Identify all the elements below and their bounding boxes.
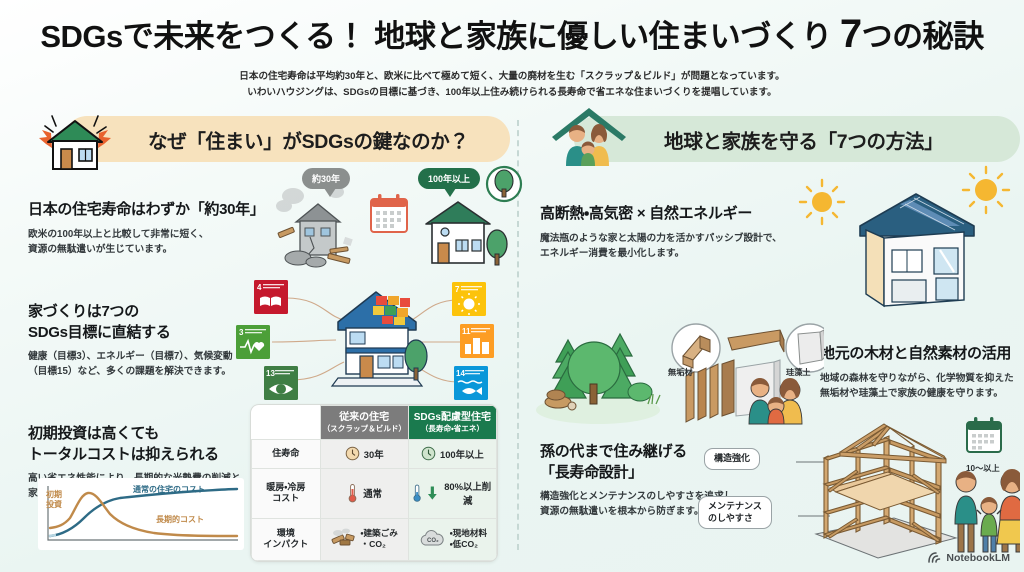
svg-text:4: 4 <box>257 283 262 292</box>
notebooklm-watermark-text: NotebookLM <box>946 552 1010 564</box>
right-column: 地球と家族を守る「7つの方法」 高断熱・高気 <box>528 112 1020 564</box>
row-label-environment: 環境 インパクト <box>252 518 321 560</box>
sdg-icon-11: 11 <box>460 324 494 363</box>
family-house-icon <box>546 104 632 172</box>
row-label-energy-cost-line-1: 暖房・冷房 <box>254 482 318 494</box>
row-label-lifespan: 住寿命 <box>252 440 321 469</box>
cell-environment-new-line-1: ・現地材料 <box>450 528 487 540</box>
co2-cloud-icon: CO₂ <box>418 529 446 549</box>
left-block-2-title-line-1: 家づくりは7つの <box>28 302 248 323</box>
right-block-2-body-line-2: 無垢材や珪藻土で家族の健康を守ります。 <box>820 386 1018 401</box>
solar-house-illustration <box>788 164 1018 315</box>
table-col-old: 従来の住宅 （スクラップ＆ビルド） <box>320 406 408 440</box>
timber-frame-icon <box>688 412 1020 564</box>
thermometer-icon <box>346 483 359 503</box>
clock-icon <box>421 446 436 461</box>
chart-label-initial-line-2: 投資 <box>46 500 62 510</box>
sun-icon-left <box>800 180 844 224</box>
left-section-pill: なぜ「住まい」がSDGsの鍵なのか？ <box>64 116 510 162</box>
callout-maintenance-line-1: メンテナンス <box>708 501 762 513</box>
cell-environment-new-line-2: ・低CO₂ <box>450 539 487 551</box>
notebooklm-watermark: NotebookLM <box>927 551 1010 564</box>
calendar-icon <box>967 417 1001 452</box>
svg-text:CO₂: CO₂ <box>427 538 439 544</box>
cell-environment-old: ・建築ごみ ・CO₂ <box>320 518 408 560</box>
callout-maintenance: メンテナンス のしやすさ <box>698 496 772 529</box>
cell-energy-old: 通常 <box>320 468 408 518</box>
cell-lifespan-new-text: 100年以上 <box>440 447 484 461</box>
right-block-1-title: 高断熱・高気密 × 自然エネルギー <box>540 204 790 225</box>
left-block-2-text: 家づくりは7つの SDGs目標に直結する 健康（目標3）、エネルギー（目標7）、… <box>28 302 248 379</box>
table-header-row: 従来の住宅 （スクラップ＆ビルド） SDGs配慮型住宅 （長寿命・省エネ） <box>252 406 497 440</box>
row-label-energy-cost-line-2: コスト <box>254 493 318 505</box>
comparison-table-grid: 従来の住宅 （スクラップ＆ビルド） SDGs配慮型住宅 （長寿命・省エネ） 住寿… <box>251 405 497 561</box>
sdg-house-diagram: 4 3 13 <box>226 270 516 406</box>
left-block-1-text: 日本の住宅寿命はわずか「約30年」 欧米の100年以上と比較して非常に短く、 資… <box>28 200 258 257</box>
page-subtitle: 日本の住宅寿命は平均約30年と、欧米に比べて極めて短く、大量の廃材を生む「スクラ… <box>0 69 1024 101</box>
cell-environment-new-list: ・現地材料 ・低CO₂ <box>450 528 487 551</box>
chart-label-initial-investment: 初期 投資 <box>46 490 62 510</box>
cost-comparison-chart: 初期 投資 通常の住宅のコスト 長期的コスト <box>38 478 244 550</box>
right-block-2-text: 地元の木材と自然素材の活用 地域の森林を守りながら、化学物質を抑えた 無垢材や珪… <box>820 344 1018 401</box>
table-col-old-title: 従来の住宅 <box>339 412 389 423</box>
table-row: 住寿命 30年 <box>252 440 497 469</box>
table-col-new: SDGs配慮型住宅 （長寿命・省エネ） <box>408 406 496 440</box>
svg-text:13: 13 <box>266 369 275 378</box>
left-block-3-title-line-1: 初期投資は高くても <box>28 424 278 445</box>
page-title-accent-number: 7 <box>840 12 862 56</box>
left-block-2-body: 健康（目標3）、エネルギー（目標7）、気候変動 （目標15）など、多くの課題を解… <box>28 349 248 379</box>
row-label-environment-line-2: インパクト <box>254 539 318 551</box>
callout-structural-reinforcement: 構造強化 <box>704 448 760 470</box>
cell-lifespan-old-text: 30年 <box>364 447 384 461</box>
sdg-icon-7: 7 <box>452 282 486 321</box>
lifespan-illustration: 約30年 100年以上 <box>258 164 508 284</box>
infographic-page: SDGsで未来をつくる！ 地球と家族に優しい住まいづくり 7つの秘訣 日本の住宅… <box>0 0 1024 572</box>
left-block-2-title-line-2: SDGs目標に直結する <box>28 323 248 344</box>
left-block-1-body: 欧米の100年以上と比較して非常に短く、 資源の無駄遣いが生じています。 <box>28 227 258 257</box>
left-block-2-title: 家づくりは7つの SDGs目標に直結する <box>28 302 248 343</box>
cell-environment-new: CO₂ ・現地材料 ・低CO₂ <box>408 518 496 560</box>
right-block-1-body-line-2: エネルギー消費を最小化します。 <box>540 246 790 261</box>
table-col-new-title: SDGs配慮型住宅 <box>414 412 491 423</box>
left-block-1-body-line-2: 資源の無駄遣いが生じています。 <box>28 242 258 257</box>
left-block-1-body-line-1: 欧米の100年以上と比較して非常に短く、 <box>28 227 258 242</box>
page-title-main: SDGsで未来をつくる！ 地球と家族に優しい住まいづくり <box>40 19 840 54</box>
svg-text:14: 14 <box>456 369 465 378</box>
sdg-icon-14: 14 <box>454 366 488 405</box>
tag-diatomaceous-earth: 珪藻土 <box>786 366 811 378</box>
right-block-1-body-line-1: 魔法瓶のような家と太陽の力を活かすパッシブ設計で、 <box>540 231 790 246</box>
sdg-icon-3: 3 <box>236 325 270 364</box>
cell-energy-new: 80%以上削減 <box>408 468 496 518</box>
page-header: SDGsで未来をつくる！ 地球と家族に優しい住まいづくり 7つの秘訣 日本の住宅… <box>0 12 1024 101</box>
cell-lifespan-new: 100年以上 <box>408 440 496 469</box>
solar-house-icon <box>788 164 1018 310</box>
sdg-icon-13: 13 <box>264 366 298 405</box>
right-block-1-text: 高断熱・高気密 × 自然エネルギー 魔法瓶のような家と太陽の力を活かすパッシブ設… <box>540 204 790 261</box>
right-section-header: 地球と家族を守る「7つの方法」 <box>528 112 1020 168</box>
right-block-1-body: 魔法瓶のような家と太陽の力を活かすパッシブ設計で、 エネルギー消費を最小化します… <box>540 231 790 261</box>
cell-environment-old-list: ・建築ごみ ・CO₂ <box>361 528 398 551</box>
row-label-energy-cost: 暖房・冷房 コスト <box>252 468 321 518</box>
svg-text:11: 11 <box>462 327 471 336</box>
chart-series-label-normal: 通常の住宅のコスト <box>133 484 205 495</box>
arrow-down-icon <box>427 484 437 502</box>
timber-frame-illustration: 構造強化 メンテナンス のしやすさ 10〜以上 <box>688 412 1020 569</box>
sdg-icon-4: 4 <box>254 280 288 319</box>
cell-energy-old-text: 通常 <box>363 486 382 500</box>
right-block-2-body: 地域の森林を守りながら、化学物質を抑えた 無垢材や珪藻土で家族の健康を守ります。 <box>820 371 1018 401</box>
page-subtitle-line-1: 日本の住宅寿命は平均約30年と、欧米に比べて極めて短く、大量の廃材を生む「スクラ… <box>0 69 1024 85</box>
comparison-table: 従来の住宅 （スクラップ＆ビルド） SDGs配慮型住宅 （長寿命・省エネ） 住寿… <box>250 404 498 562</box>
right-block-2-body-line-1: 地域の森林を守りながら、化学物質を抑えた <box>820 371 1018 386</box>
table-row: 環境 インパクト <box>252 518 497 560</box>
row-label-environment-line-1: 環境 <box>254 528 318 540</box>
tag-solid-wood: 無垢材 <box>668 366 693 378</box>
calendar-years-label: 10〜以上 <box>966 462 1000 474</box>
page-subtitle-line-2: いわいハウジングは、SDGsの目標に基づき、100年以上住み続けられる長寿命で省… <box>0 85 1024 101</box>
right-block-2-title: 地元の木材と自然素材の活用 <box>820 344 1018 365</box>
left-block-3-title-line-2: トータルコストは抑えられる <box>28 445 278 466</box>
calendar-icon <box>368 192 410 236</box>
cell-energy-new-text: 80%以上削減 <box>441 479 494 507</box>
page-title-tail: つの秘訣 <box>862 19 984 54</box>
burst-house-icon <box>36 104 122 172</box>
tree-circle-icon <box>484 164 524 204</box>
table-corner-cell <box>252 406 321 440</box>
right-section-pill: 地球と家族を守る「7つの方法」 <box>574 116 1020 162</box>
left-block-1-title: 日本の住宅寿命はわずか「約30年」 <box>28 200 258 221</box>
table-col-new-subtitle: （長寿命・省エネ） <box>411 424 494 433</box>
left-section-header: なぜ「住まい」がSDGsの鍵なのか？ <box>18 112 510 168</box>
notebooklm-logo-icon <box>927 551 942 564</box>
left-block-2-body-line-1: 健康（目標3）、エネルギー（目標7）、気候変動 <box>28 349 248 364</box>
cell-environment-old-line-1: ・建築ごみ <box>361 528 398 540</box>
chart-series-label-longterm: 長期的コスト <box>156 514 204 525</box>
chart-label-initial-line-1: 初期 <box>46 490 62 500</box>
thermometer-icon <box>411 483 423 503</box>
svg-text:7: 7 <box>455 285 460 294</box>
bubble-new-lifespan: 100年以上 <box>418 168 480 189</box>
table-col-old-subtitle: （スクラップ＆ビルド） <box>323 424 406 433</box>
svg-text:3: 3 <box>239 328 244 337</box>
right-section-title: 地球と家族を守る「7つの方法」 <box>664 125 943 154</box>
cell-lifespan-old: 30年 <box>320 440 408 469</box>
bubble-old-lifespan: 約30年 <box>302 168 350 189</box>
page-title: SDGsで未来をつくる！ 地球と家族に優しい住まいづくり 7つの秘訣 <box>0 12 1024 56</box>
sun-icon-right <box>963 167 1009 213</box>
left-block-2-body-line-2: （目標15）など、多くの課題を解決できます。 <box>28 364 248 379</box>
cell-environment-old-line-2: ・CO₂ <box>361 539 398 551</box>
clock-icon <box>345 446 360 461</box>
callout-maintenance-line-2: のしやすさ <box>708 513 762 525</box>
bubble-old-tail <box>324 188 336 197</box>
debris-icon <box>331 528 357 550</box>
table-row: 暖房・冷房 コスト 通常 <box>252 468 497 518</box>
left-block-3-title: 初期投資は高くても トータルコストは抑えられる <box>28 424 278 465</box>
bubble-new-tail <box>444 188 456 197</box>
left-section-title: なぜ「住まい」がSDGsの鍵なのか？ <box>148 125 469 154</box>
